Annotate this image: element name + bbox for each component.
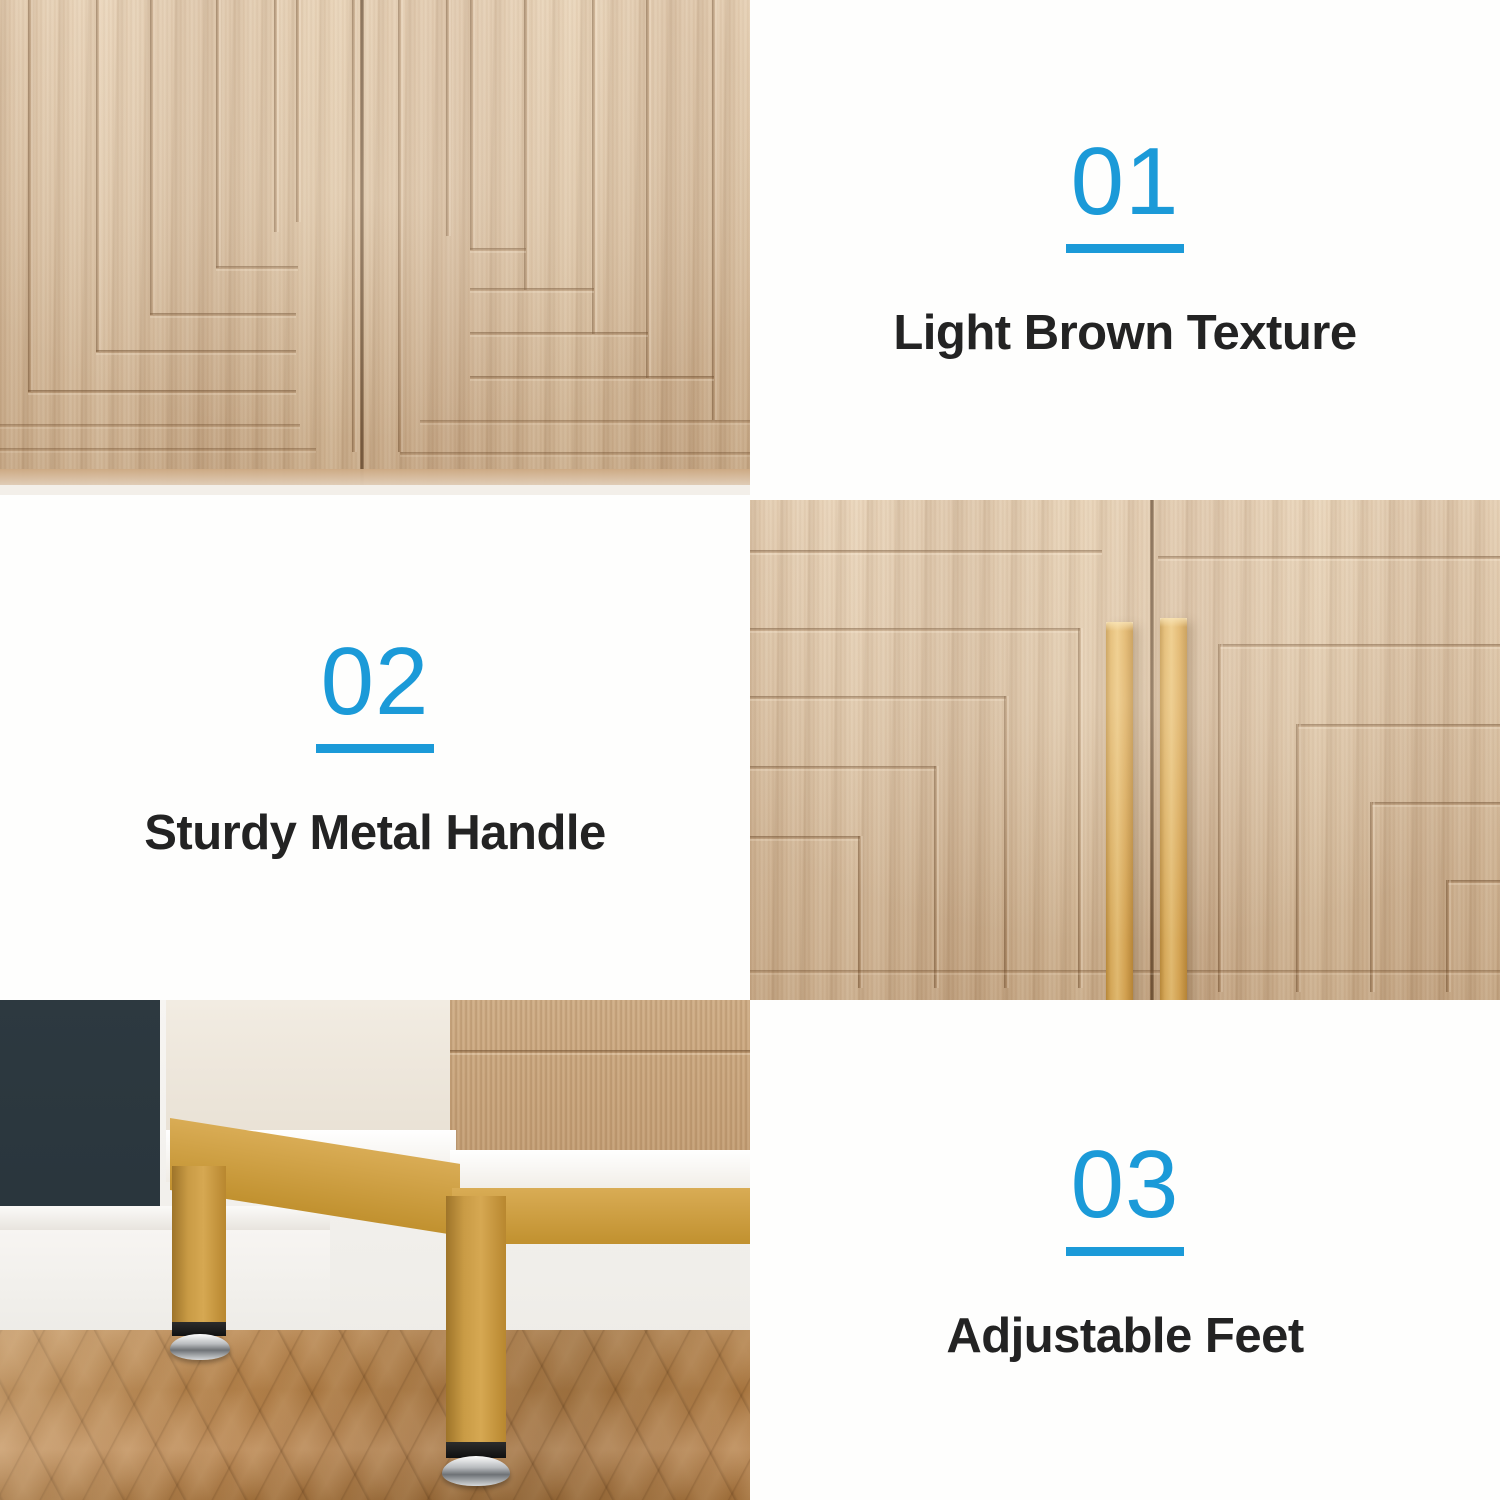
floor-gloss [0, 1330, 750, 1500]
photo-sturdy-metal-handle [750, 500, 1500, 1000]
step-number-03: 03 [1071, 1137, 1180, 1233]
caption-block-03: 03 Adjustable Feet [750, 1000, 1500, 1500]
step-number-group-01: 01 [1066, 134, 1184, 253]
adjustable-foot-back [170, 1334, 230, 1360]
baseboard [0, 1206, 330, 1230]
photo-adjustable-feet [0, 1000, 750, 1500]
step-number-02: 02 [321, 634, 430, 730]
photo-light-brown-texture [0, 0, 750, 495]
step-title-01: Light Brown Texture [893, 305, 1356, 361]
adjustable-foot-front [442, 1456, 510, 1486]
floor-strip [0, 485, 750, 495]
step-number-group-02: 02 [316, 634, 434, 753]
wood-lighting [0, 0, 750, 495]
step-underline-01 [1066, 244, 1184, 253]
cabinet-leg-back [172, 1166, 226, 1326]
step-number-01: 01 [1071, 134, 1180, 230]
step-number-group-03: 03 [1066, 1137, 1184, 1256]
cabinet-door-wood [450, 1000, 750, 1152]
cabinet-leg-front [446, 1196, 506, 1448]
step-underline-02 [316, 744, 434, 753]
cabinet-bottom-rail [450, 1150, 750, 1192]
door-groove [450, 1050, 750, 1053]
wood-lighting [750, 500, 1500, 1000]
step-title-03: Adjustable Feet [946, 1308, 1303, 1364]
step-title-02: Sturdy Metal Handle [144, 805, 606, 861]
caption-block-02: 02 Sturdy Metal Handle [0, 495, 750, 1026]
step-underline-03 [1066, 1247, 1184, 1256]
herringbone-floor [0, 1330, 750, 1500]
product-feature-infographic: 01 Light Brown Texture 02 Sturdy Metal H… [0, 0, 1500, 1500]
caption-block-01: 01 Light Brown Texture [750, 0, 1500, 535]
